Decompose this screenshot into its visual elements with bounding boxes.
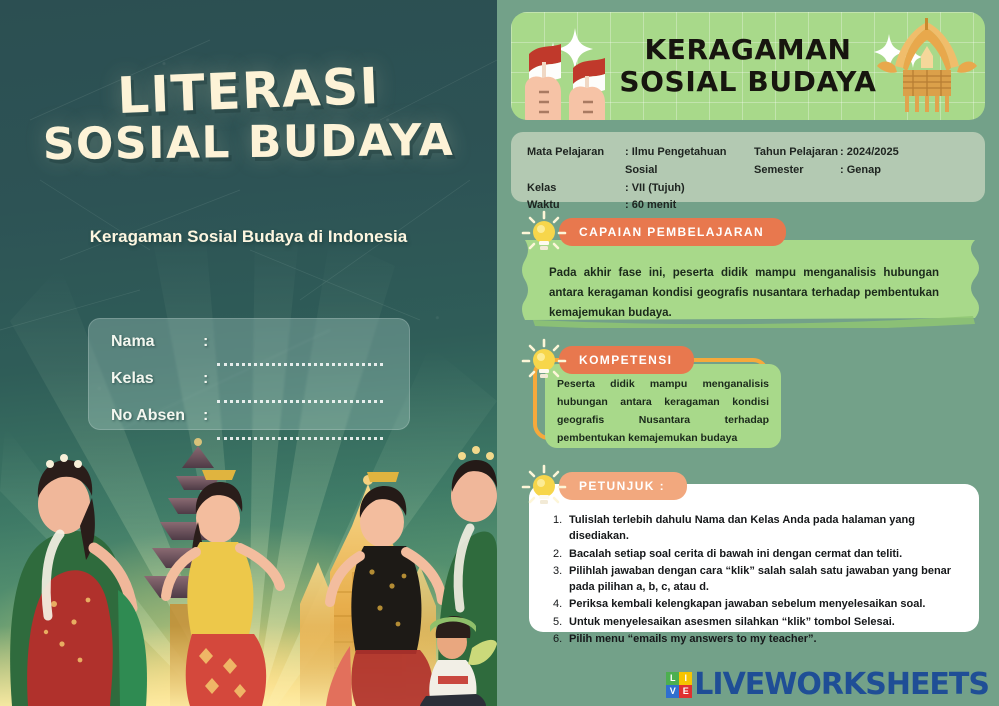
- info-value-kelas: : VII (Tujuh): [625, 180, 742, 198]
- liveworksheets-logo[interactable]: L I V E LIVEWORKSHEETS: [666, 667, 989, 702]
- list-item-number: 2.: [553, 546, 562, 562]
- colon-kelas: :: [203, 370, 217, 388]
- info-row-mata-pelajaran: Mata Pelajaran : Ilmu Pengetahuan Sosial: [527, 144, 742, 180]
- info-row-semester: Semester : Genap: [754, 162, 969, 180]
- list-item: 6. Pilih menu “emails my answers to my t…: [553, 631, 965, 647]
- info-key-tahun-pelajaran: Tahun Pelajaran: [754, 144, 840, 162]
- info-value-waktu: : 60 menit: [625, 197, 742, 215]
- petunjuk-label-badge: PETUNJUK :: [559, 472, 687, 500]
- colon-no-absen: :: [203, 407, 217, 425]
- lightbulb-icon: [521, 338, 567, 384]
- cover-title-line2: SOSIAL BUDAYA: [0, 118, 497, 168]
- list-item-number: 4.: [553, 596, 562, 612]
- info-key-kelas: Kelas: [527, 180, 625, 198]
- student-identity-card: Nama : Kelas : No Absen :: [88, 318, 410, 430]
- info-key-mata-pelajaran: Mata Pelajaran: [527, 144, 625, 180]
- capaian-label-badge: CAPAIAN PEMBELAJARAN: [559, 218, 786, 246]
- logo-tile-l: L: [666, 672, 679, 685]
- lightbulb-icon: [521, 210, 567, 256]
- info-row-tahun-pelajaran: Tahun Pelajaran : 2024/2025: [754, 144, 969, 162]
- list-item: 4. Periksa kembali kelengkapan jawaban s…: [553, 596, 965, 612]
- list-item-number: 1.: [553, 512, 562, 528]
- field-row-nama[interactable]: Nama :: [111, 333, 409, 370]
- cover-title: LITERASI SOSIAL BUDAYA: [0, 66, 497, 166]
- label-no-absen: No Absen: [111, 407, 203, 425]
- list-item-text: Pilihlah jawaban dengan cara “klik” sala…: [569, 565, 951, 593]
- input-kelas[interactable]: [217, 400, 383, 403]
- banner-title: KERAGAMAN SOSIAL BUDAYA: [619, 34, 876, 98]
- input-no-absen[interactable]: [217, 437, 383, 440]
- list-item: 1. Tulislah terlebih dahulu Nama dan Kel…: [553, 512, 965, 545]
- section-capaian-pembelajaran: CAPAIAN PEMBELAJARAN Pada akhir fase ini…: [511, 218, 985, 330]
- logo-tile-v: V: [666, 685, 679, 698]
- dancer-green-kebaya-art: [10, 454, 147, 706]
- list-item: 2. Bacalah setiap soal cerita di bawah i…: [553, 546, 965, 562]
- info-key-semester: Semester: [754, 162, 840, 180]
- section-petunjuk: PETUNJUK : 1. Tulislah terlebih dahulu N…: [511, 472, 985, 632]
- input-nama[interactable]: [217, 363, 383, 366]
- info-column-right: Tahun Pelajaran : 2024/2025 Semester : G…: [742, 144, 969, 188]
- toraja-house-shape: [877, 18, 977, 112]
- cover-subtitle: Keragaman Sosial Budaya di Indonesia: [70, 222, 427, 252]
- info-row-kelas: Kelas : VII (Tujuh): [527, 180, 742, 198]
- logo-tile-e: E: [679, 685, 692, 698]
- capaian-text: Pada akhir fase ini, peserta didik mampu…: [549, 264, 939, 323]
- label-kelas: Kelas: [111, 370, 203, 388]
- lightbulb-icon: [521, 464, 567, 510]
- info-value-tahun-pelajaran: : 2024/2025: [840, 144, 969, 162]
- list-item-text: Untuk menyelesaikan asesmen silahkan “kl…: [569, 616, 895, 628]
- list-item-number: 3.: [553, 563, 562, 579]
- list-item-number: 5.: [553, 614, 562, 630]
- colon-nama: :: [203, 333, 217, 351]
- section-kompetensi: KOMPETENSI Peserta didik mampu menganali…: [511, 346, 985, 456]
- banner-title-line1: KERAGAMAN: [644, 33, 851, 66]
- list-item-text: Tulislah terlebih dahulu Nama dan Kelas …: [569, 514, 915, 542]
- info-value-semester: : Genap: [840, 162, 969, 180]
- cover-panel: LITERASI SOSIAL BUDAYA Keragaman Sosial …: [0, 0, 497, 706]
- logo-tiles: L I V E: [666, 672, 692, 698]
- list-item-number: 6.: [553, 631, 562, 647]
- list-item: 3. Pilihlah jawaban dengan cara “klik” s…: [553, 563, 965, 596]
- kompetensi-label-badge: KOMPETENSI: [559, 346, 694, 374]
- info-value-mata-pelajaran: : Ilmu Pengetahuan Sosial: [625, 144, 742, 180]
- field-row-kelas[interactable]: Kelas :: [111, 370, 409, 407]
- worksheet-banner: KERAGAMAN SOSIAL BUDAYA: [511, 12, 985, 120]
- petunjuk-list: 1. Tulislah terlebih dahulu Nama dan Kel…: [553, 512, 965, 648]
- field-row-no-absen[interactable]: No Absen :: [111, 407, 409, 444]
- list-item-text: Pilih menu “emails my answers to my teac…: [569, 633, 817, 645]
- list-item-text: Periksa kembali kelengkapan jawaban sebe…: [569, 598, 925, 610]
- list-item-text: Bacalah setiap soal cerita di bawah ini …: [569, 548, 902, 560]
- logo-tile-i: I: [679, 672, 692, 685]
- kompetensi-text: Peserta didik mampu menganalisis hubunga…: [557, 376, 769, 447]
- list-item: 5. Untuk menyelesaikan asesmen silahkan …: [553, 614, 965, 630]
- worksheet-info-box: Mata Pelajaran : Ilmu Pengetahuan Sosial…: [511, 132, 985, 202]
- worksheet-panel: KERAGAMAN SOSIAL BUDAYA: [497, 0, 999, 706]
- banner-title-line2: SOSIAL BUDAYA: [619, 65, 876, 98]
- worksheet-page: LITERASI SOSIAL BUDAYA Keragaman Sosial …: [0, 0, 999, 706]
- tongkonan-house-icon: [873, 16, 983, 120]
- info-column-left: Mata Pelajaran : Ilmu Pengetahuan Sosial…: [527, 144, 742, 188]
- logo-wordmark: LIVEWORKSHEETS: [694, 667, 989, 702]
- label-nama: Nama: [111, 333, 203, 351]
